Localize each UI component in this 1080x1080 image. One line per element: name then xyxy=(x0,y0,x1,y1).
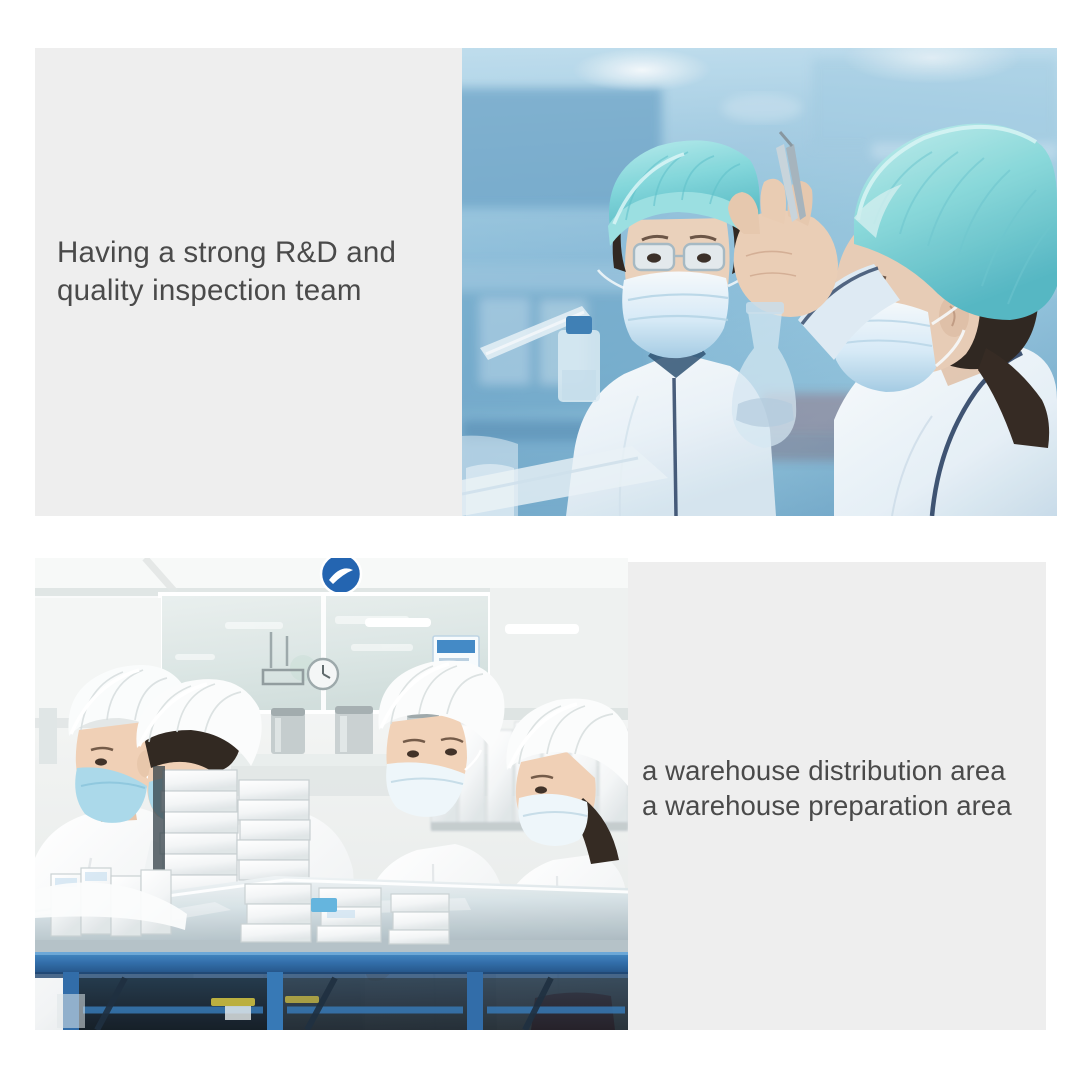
slide-root: Having a strong R&D and quality inspecti… xyxy=(0,0,1080,1080)
top-caption-text: Having a strong R&D and quality inspecti… xyxy=(57,234,457,310)
bottom-caption-text: a warehouse distribution area a warehous… xyxy=(642,753,1046,823)
warehouse-packing-photo xyxy=(35,558,628,1030)
warehouse-photo-illustration xyxy=(35,558,628,1030)
lab-photo-illustration xyxy=(462,48,1057,516)
top-section: Having a strong R&D and quality inspecti… xyxy=(35,48,1057,516)
lab-quality-inspection-photo xyxy=(462,48,1057,516)
bottom-section: a warehouse distribution area a warehous… xyxy=(35,558,1046,1030)
